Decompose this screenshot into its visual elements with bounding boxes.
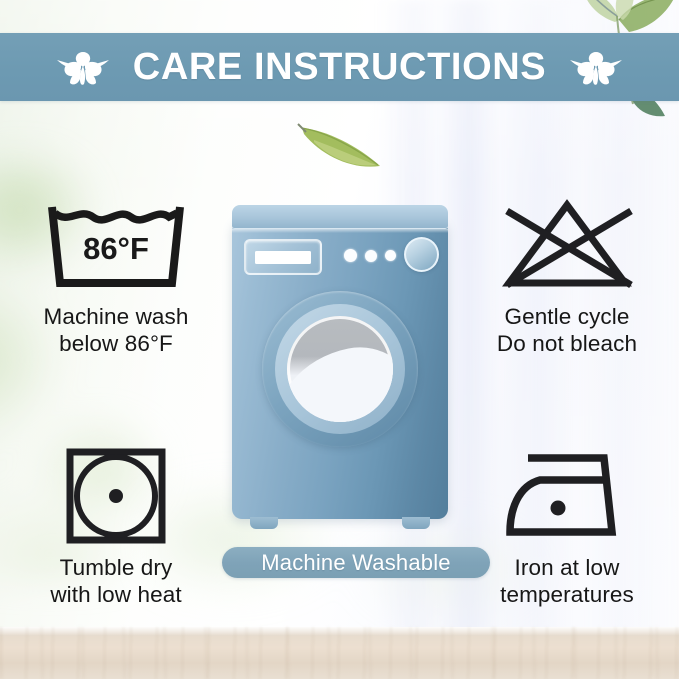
machine-door <box>262 291 418 447</box>
machine-door-ring <box>275 304 405 434</box>
machine-indicator-lights <box>344 249 396 262</box>
banner: CARE INSTRUCTIONS <box>0 33 679 101</box>
wood-table-surface <box>0 627 679 679</box>
wash-tub-icon-wrap: 86°F <box>6 192 226 298</box>
tumble-dry-icon-wrap <box>6 443 226 549</box>
indicator-light-icon <box>344 249 357 262</box>
symbol-caption: Gentle cycle Do not bleach <box>457 304 677 358</box>
iron-icon-wrap <box>457 443 677 549</box>
symbol-iron: Iron at low temperatures <box>457 443 677 609</box>
machine-foot-right <box>402 517 430 529</box>
iron-low-temperature-icon <box>496 448 638 544</box>
wash-temperature-value: 86°F <box>83 231 149 266</box>
machine-drawer-slot <box>255 251 311 264</box>
symbol-tumble-dry: Tumble dry with low heat <box>6 443 226 609</box>
tumble-dry-low-icon <box>64 446 168 546</box>
wood-grain-texture <box>0 627 679 679</box>
do-not-bleach-icon-wrap <box>457 192 677 298</box>
machine-door-swirl <box>287 337 393 422</box>
indicator-light-icon <box>385 250 396 261</box>
symbol-caption: Iron at low temperatures <box>457 555 677 609</box>
symbol-machine-wash: 86°F Machine wash below 86°F <box>6 192 226 358</box>
fleur-de-lis-right-icon <box>568 46 624 88</box>
badge-label: Machine Washable <box>261 552 450 574</box>
wash-tub-icon: 86°F <box>40 197 192 293</box>
machine-program-knob <box>404 237 439 272</box>
symbol-caption: Machine wash below 86°F <box>6 304 226 358</box>
symbol-do-not-bleach: Gentle cycle Do not bleach <box>457 192 677 358</box>
banner-title: CARE INSTRUCTIONS <box>133 48 546 86</box>
machine-detergent-drawer <box>244 239 322 275</box>
indicator-light-icon <box>365 250 377 262</box>
machine-washable-badge: Machine Washable <box>222 547 490 578</box>
machine-door-glass <box>287 316 393 422</box>
machine-top-panel <box>232 205 448 229</box>
do-not-bleach-triangle-icon <box>491 197 643 293</box>
machine-foot-left <box>250 517 278 529</box>
care-instructions-infographic: CARE INSTRUCTIONS 86°F Machine wash belo <box>0 0 679 679</box>
fleur-de-lis-left-icon <box>55 46 111 88</box>
symbol-caption: Tumble dry with low heat <box>6 555 226 609</box>
floating-leaf-icon <box>296 118 388 174</box>
washing-machine-illustration <box>226 205 454 535</box>
